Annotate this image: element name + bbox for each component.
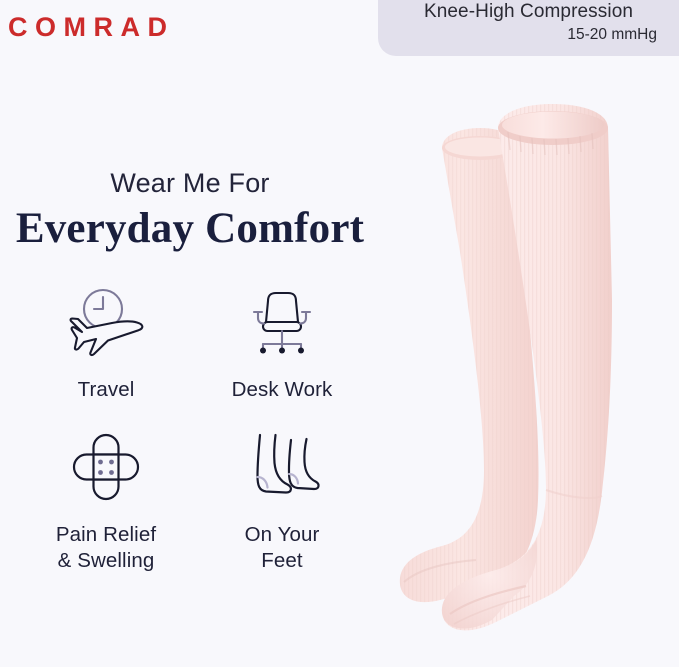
headline-block: Wear Me For Everyday Comfort [0,168,380,255]
bandage-cross-icon [54,425,158,509]
benefit-label-travel: Travel [78,377,135,403]
benefit-grid: Travel Desk Work [18,280,370,575]
benefit-item-travel: Travel [18,280,194,403]
benefit-item-on-your-feet: On Your Feet [194,425,370,574]
airplane-clock-icon [54,280,158,364]
benefit-label-on-your-feet: On Your Feet [245,522,320,574]
benefit-label-pain-relief: Pain Relief & Swelling [56,522,156,574]
benefit-label-desk-work: Desk Work [232,377,333,403]
headline-kicker: Wear Me For [0,168,380,199]
product-photo-socks [380,0,679,667]
benefit-item-pain-relief: Pain Relief & Swelling [18,425,194,574]
feet-icon [230,425,334,509]
brand-logo: COMRAD [8,14,175,41]
product-infographic: COMRAD Knee-High Compression 15-20 mmHg … [0,0,679,667]
office-chair-icon [230,280,334,364]
headline-main: Everyday Comfort [0,203,380,255]
benefit-item-desk-work: Desk Work [194,280,370,403]
